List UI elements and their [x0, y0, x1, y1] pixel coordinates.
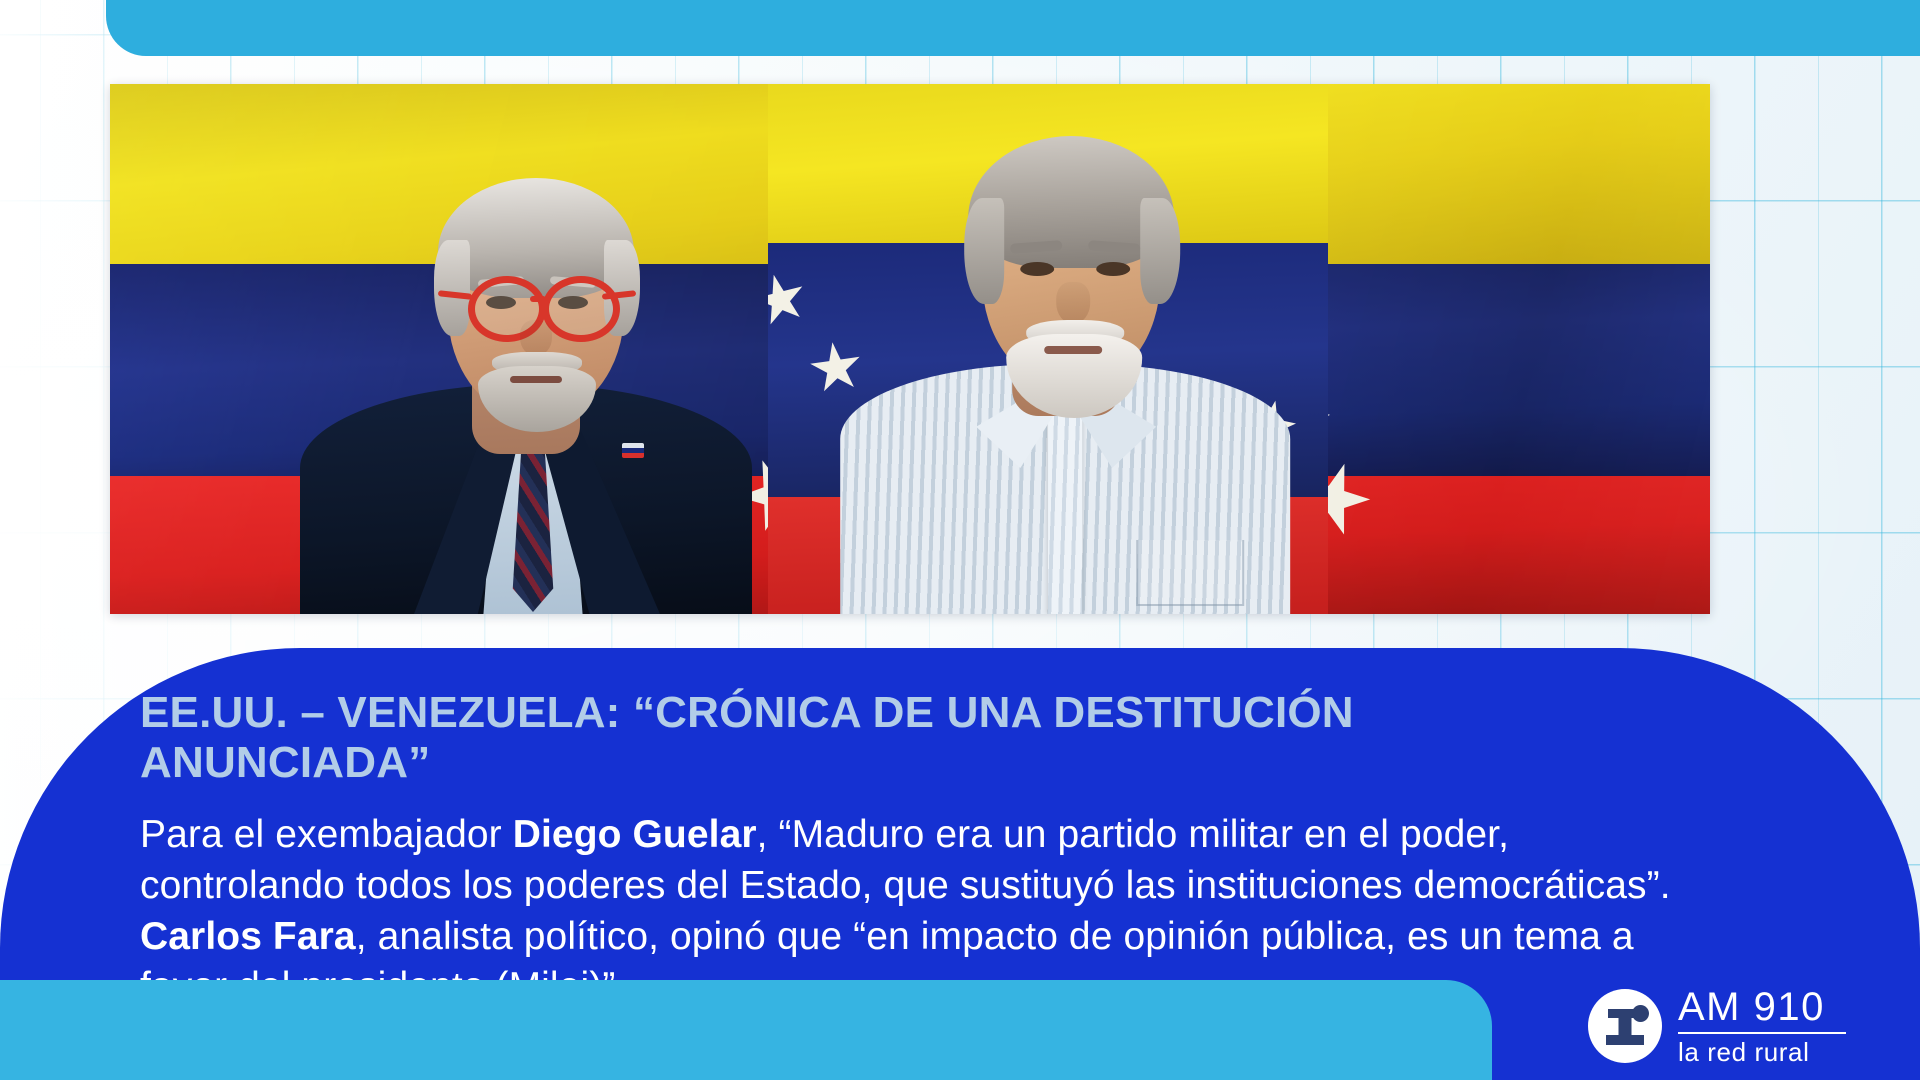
logo-serif-base: [1606, 1035, 1644, 1045]
portrait-carlos-fara: [850, 94, 1280, 614]
am910-circle-mark-icon: [1588, 989, 1662, 1063]
logo-tagline: la red rural: [1678, 1039, 1809, 1066]
logo-text-block: AM 910 la red rural: [1678, 987, 1846, 1066]
top-accent-bar: [106, 0, 1920, 56]
portrait-flag-pin: [622, 443, 644, 458]
photo-strip: [110, 84, 1710, 614]
portrait-shirt-placket: [1048, 384, 1082, 614]
portrait-mouth: [510, 376, 562, 383]
portrait-eye-right: [1096, 262, 1130, 276]
portrait-hair-side-right: [1140, 198, 1180, 304]
logo-dot-icon: [1632, 1005, 1649, 1022]
logo-divider: [1678, 1032, 1846, 1034]
article-summary-emphasis: Carlos Fara: [140, 915, 356, 958]
article-summary-text: Para el exembajador: [140, 813, 513, 856]
portrait-diego-guelar: [306, 144, 746, 614]
portrait-shirt-pocket: [1136, 540, 1244, 606]
glasses-bridge: [530, 296, 546, 302]
bottom-accent-bar: [0, 980, 1492, 1080]
portrait-carlos-fara-panel: [768, 84, 1328, 614]
portrait-hair-side-left: [434, 240, 470, 336]
page-title: EE.UU. – Venezuela: “Crónica de una dest…: [140, 688, 1630, 788]
poster-canvas: EE.UU. – Venezuela: “Crónica de una dest…: [0, 0, 1920, 1080]
content-panel-inner: EE.UU. – Venezuela: “Crónica de una dest…: [140, 688, 1800, 1013]
portrait-eye-left: [1020, 262, 1054, 276]
portrait-nose: [520, 320, 552, 356]
portrait-hair-side-left: [964, 198, 1004, 304]
portrait-mouth: [1044, 346, 1102, 354]
logo-station-name: AM 910: [1678, 987, 1825, 1028]
article-summary-emphasis: Diego Guelar: [513, 813, 757, 856]
portrait-nose: [1056, 282, 1090, 324]
station-logo[interactable]: AM 910 la red rural: [1588, 987, 1846, 1066]
glasses-lens-right: [542, 276, 620, 342]
